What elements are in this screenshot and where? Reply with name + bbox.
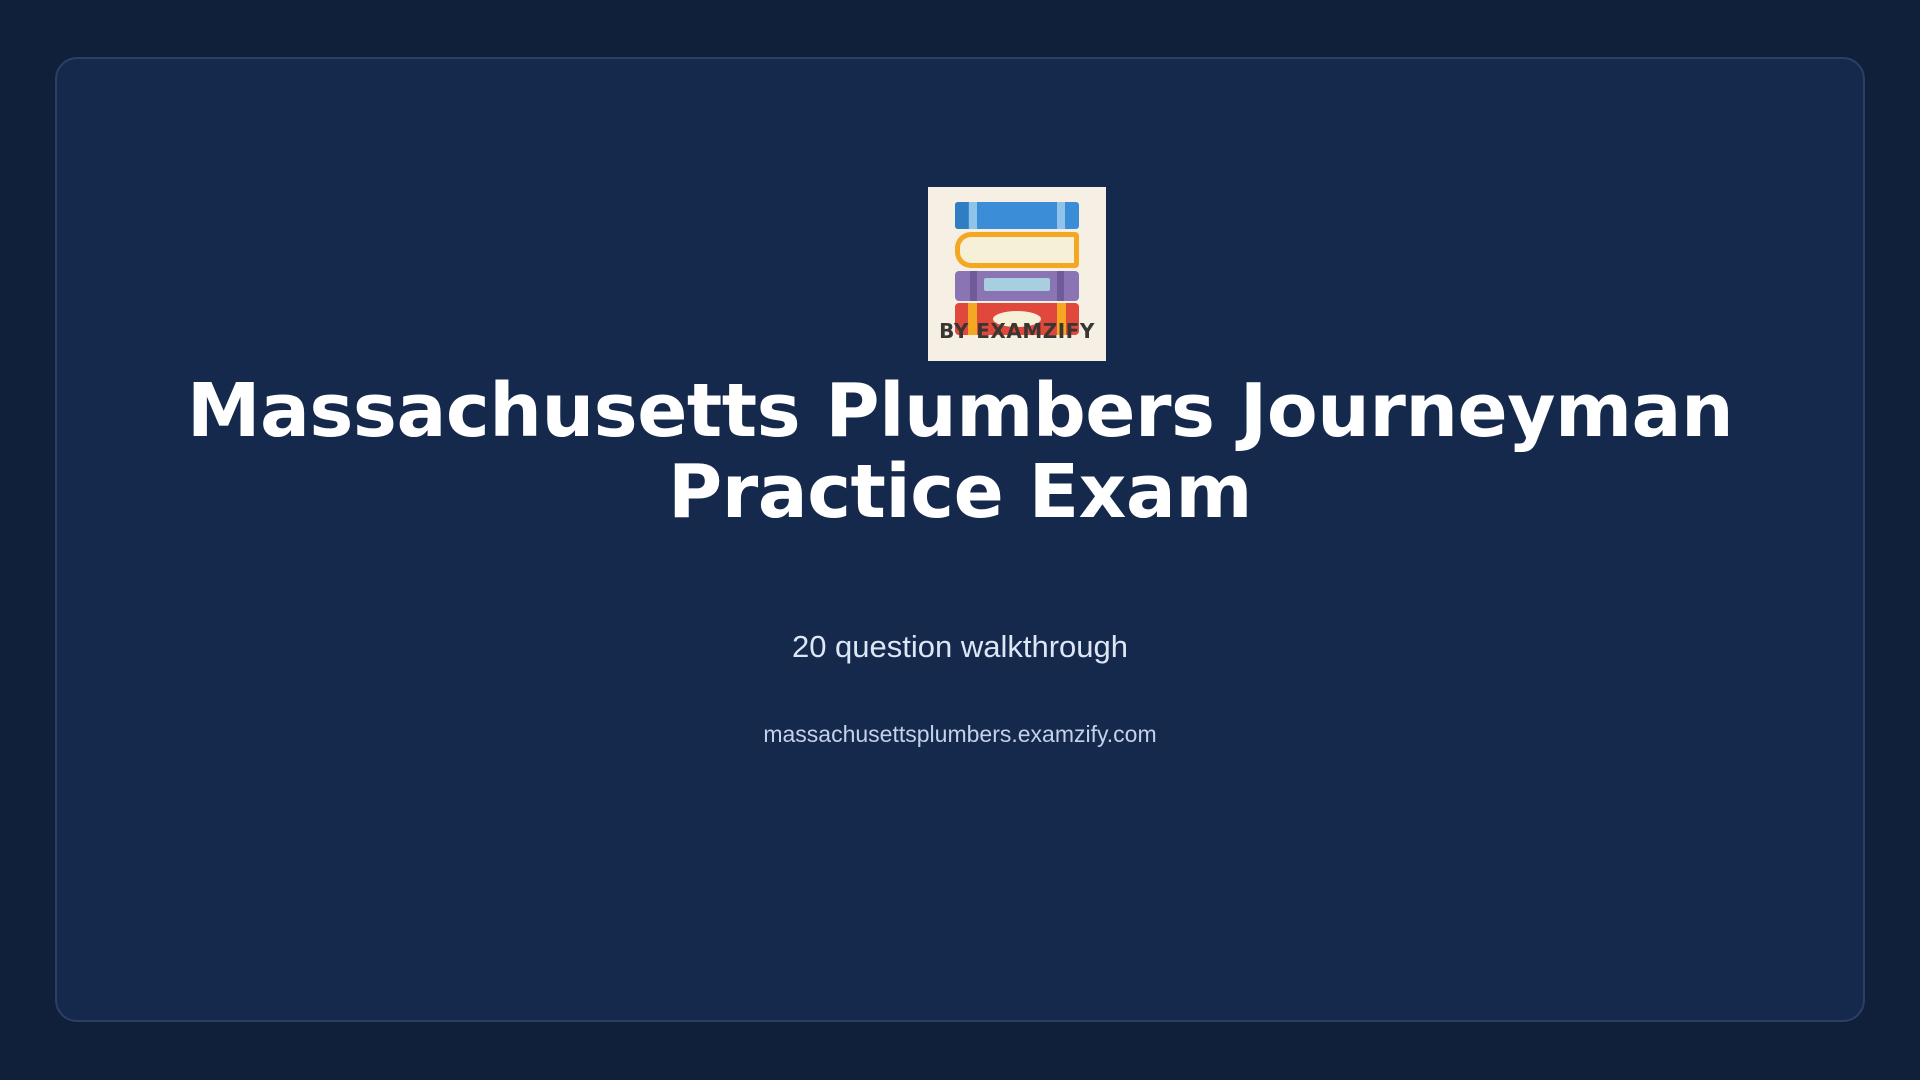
slide-root: BY EXAMZIFY Massachusetts Plumbers Journ… [0,0,1920,1080]
blue-book-edge-right [1057,202,1065,229]
purple-book-edge-left [970,271,977,301]
purple-book-label [984,278,1050,291]
purple-book-edge-right [1057,271,1064,301]
stacked-books-icon [928,199,1106,329]
brand-logo: BY EXAMZIFY [928,187,1106,361]
blue-book-edge-left [969,202,977,229]
slide-card: BY EXAMZIFY Massachusetts Plumbers Journ… [55,57,1865,1022]
page-title: Massachusetts Plumbers Journeyman Practi… [167,371,1753,534]
blue-book-spine [955,202,968,229]
purple-book-icon [955,271,1079,301]
site-url: massachusettsplumbers.examzify.com [167,721,1753,748]
orange-book-icon [955,232,1079,268]
slide-subtitle: 20 question walkthrough [167,629,1753,665]
brand-wordmark: BY EXAMZIFY [928,319,1106,343]
blue-book-icon [955,202,1079,229]
